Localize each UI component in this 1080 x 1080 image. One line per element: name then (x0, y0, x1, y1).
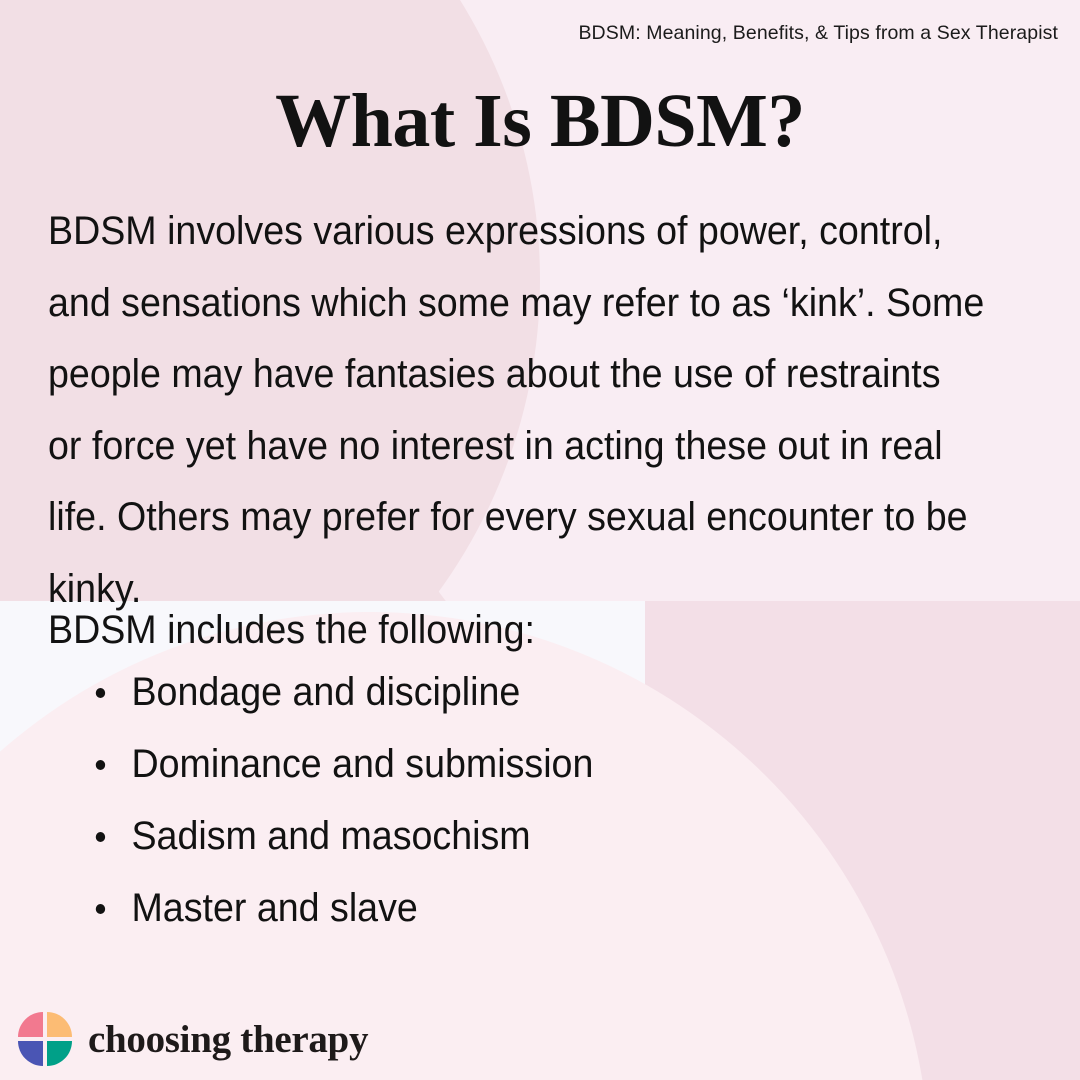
list-intro-text: BDSM includes the following: (48, 601, 706, 659)
petal-top-right (47, 1012, 72, 1037)
bullet-dot-icon (96, 832, 105, 842)
brand-wordmark: choosing therapy (88, 1020, 368, 1059)
list-item: Bondage and discipline (92, 668, 593, 716)
bdsm-component-list: Bondage and discipline Dominance and sub… (92, 668, 593, 956)
slide-content: BDSM: Meaning, Benefits, & Tips from a S… (0, 0, 1080, 1080)
petal-bottom-right (47, 1041, 72, 1066)
petal-top-left (18, 1012, 43, 1037)
list-item-label: Dominance and submission (131, 742, 593, 786)
bullet-dot-icon (96, 688, 105, 698)
list-item: Dominance and submission (92, 740, 593, 788)
bullet-dot-icon (96, 904, 105, 914)
petal-bottom-left (18, 1041, 43, 1066)
list-item-label: Sadism and masochism (131, 814, 530, 858)
list-item: Master and slave (92, 884, 593, 932)
choosing-therapy-petal-mark-icon (18, 1012, 72, 1066)
slide-canvas: BDSM: Meaning, Benefits, & Tips from a S… (0, 0, 1080, 1080)
body-paragraph: BDSM involves various expressions of pow… (48, 196, 984, 625)
list-item-label: Master and slave (131, 886, 417, 930)
page-title: What Is BDSM? (0, 78, 1080, 165)
bullet-dot-icon (96, 760, 105, 770)
list-item: Sadism and masochism (92, 812, 593, 860)
list-item-label: Bondage and discipline (131, 670, 520, 714)
brand-logo: choosing therapy (18, 1012, 368, 1066)
article-title-eyebrow: BDSM: Meaning, Benefits, & Tips from a S… (578, 22, 1058, 45)
